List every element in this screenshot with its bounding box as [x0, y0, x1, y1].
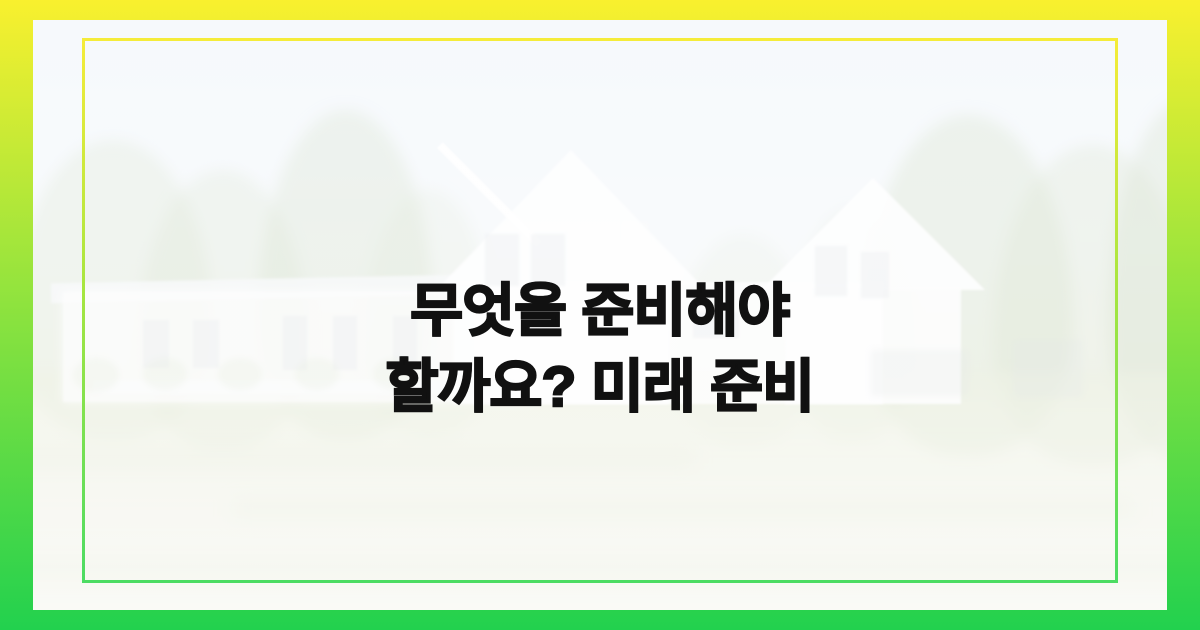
lawn-streak	[33, 560, 1167, 578]
lawn-streak	[233, 500, 1133, 518]
banner: 무엇을 준비해야 할까요? 미래 준비	[0, 0, 1200, 630]
headline-text: 무엇을 준비해야 할까요? 미래 준비	[0, 274, 1200, 426]
lawn-streak	[33, 450, 693, 468]
gable-roof-large	[441, 150, 701, 285]
